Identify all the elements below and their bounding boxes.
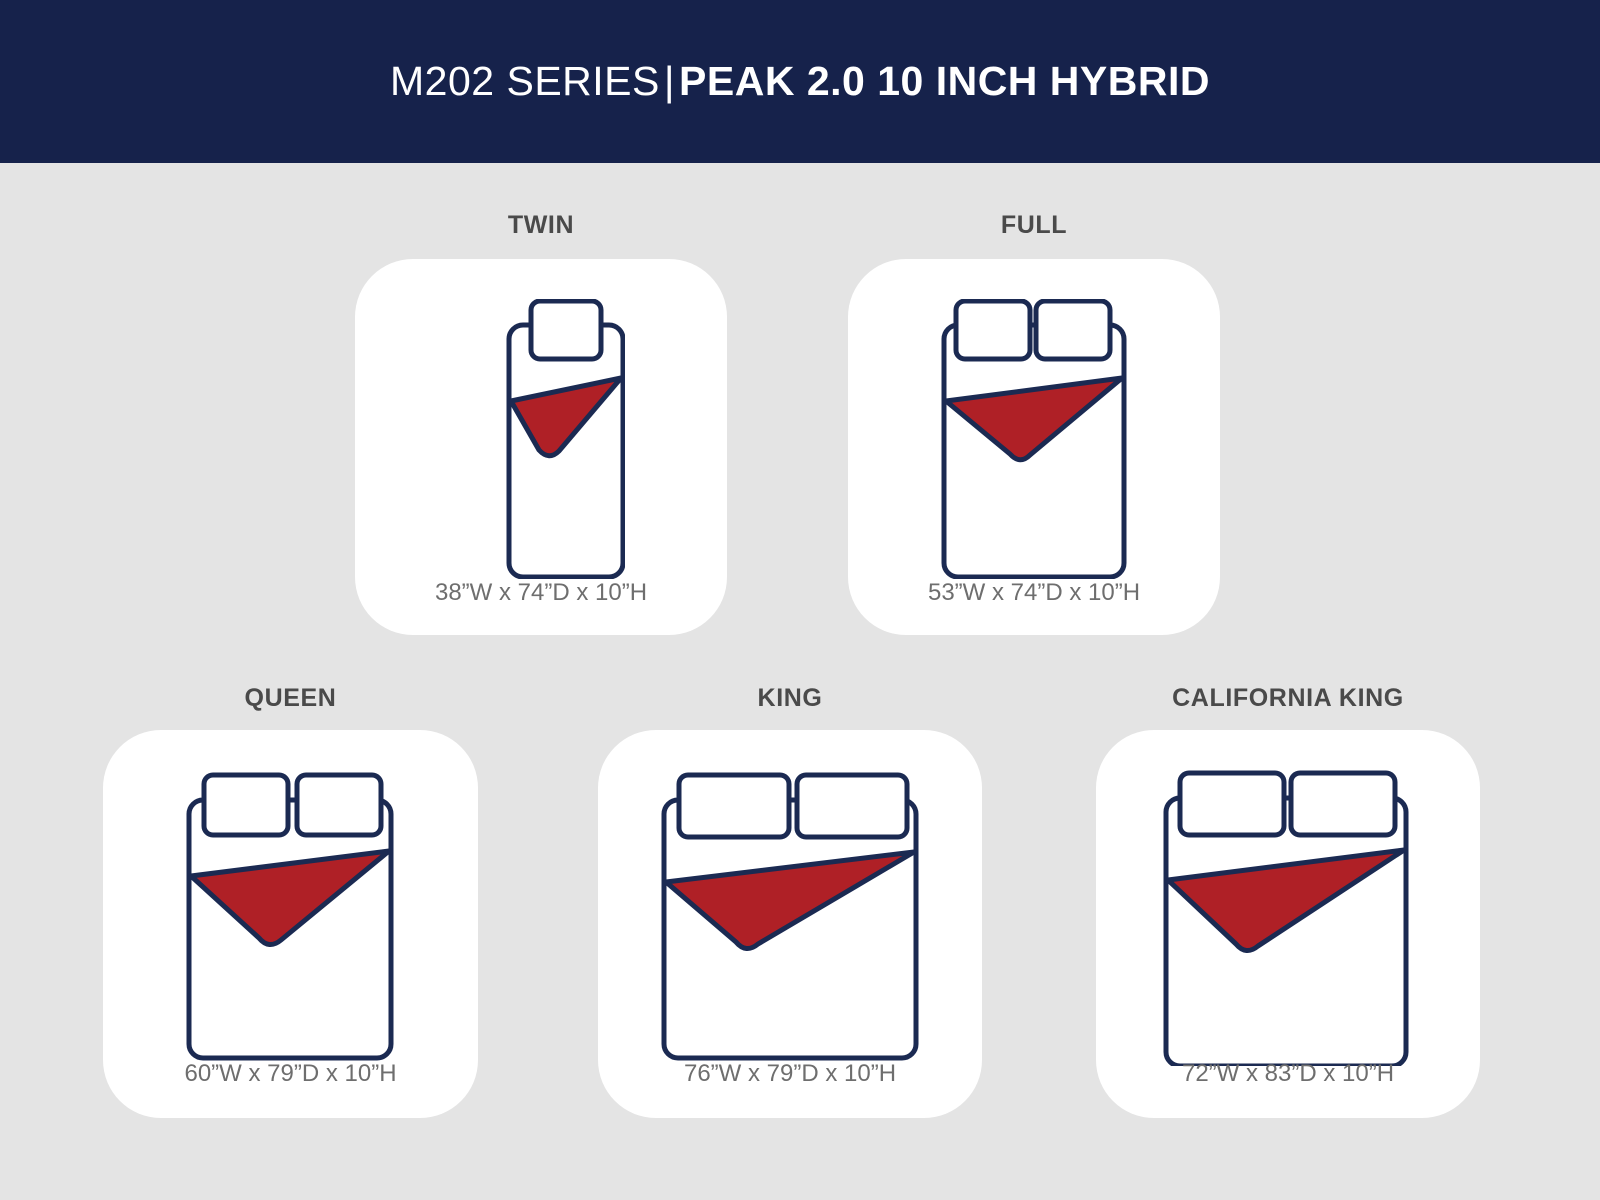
series-label: M202 SERIES bbox=[390, 58, 660, 104]
bed-twin-icon bbox=[457, 299, 625, 579]
bed-full-icon bbox=[932, 299, 1136, 579]
bed-king-icon bbox=[656, 772, 924, 1062]
bed-california-king-icon bbox=[1158, 770, 1416, 1066]
size-label-king: KING bbox=[598, 684, 982, 713]
size-chart-page: M202 SERIES|PEAK 2.0 10 INCH HYBRID TWIN… bbox=[0, 0, 1600, 1200]
size-card-twin[interactable]: 38”W x 74”D x 10”H bbox=[355, 259, 727, 635]
size-card-king[interactable]: 76”W x 79”D x 10”H bbox=[598, 730, 982, 1118]
dimensions-twin: 38”W x 74”D x 10”H bbox=[355, 579, 727, 607]
size-card-full[interactable]: 53”W x 74”D x 10”H bbox=[848, 259, 1220, 635]
page-header: M202 SERIES|PEAK 2.0 10 INCH HYBRID bbox=[0, 0, 1600, 163]
product-label: PEAK 2.0 10 INCH HYBRID bbox=[679, 58, 1210, 104]
size-card-queen[interactable]: 60”W x 79”D x 10”H bbox=[103, 730, 478, 1118]
size-label-full: FULL bbox=[848, 211, 1220, 240]
dimensions-full: 53”W x 74”D x 10”H bbox=[848, 579, 1220, 607]
size-card-california-king[interactable]: 72”W x 83”D x 10”H bbox=[1096, 730, 1480, 1118]
page-title: M202 SERIES|PEAK 2.0 10 INCH HYBRID bbox=[390, 58, 1210, 105]
size-label-twin: TWIN bbox=[355, 211, 727, 240]
title-separator: | bbox=[660, 58, 679, 104]
size-label-california-king: CALIFORNIA KING bbox=[1096, 684, 1480, 713]
dimensions-california-king: 72”W x 83”D x 10”H bbox=[1096, 1060, 1480, 1088]
dimensions-king: 76”W x 79”D x 10”H bbox=[598, 1060, 982, 1088]
dimensions-queen: 60”W x 79”D x 10”H bbox=[103, 1060, 478, 1088]
bed-queen-icon bbox=[181, 772, 399, 1062]
size-label-queen: QUEEN bbox=[103, 684, 478, 713]
